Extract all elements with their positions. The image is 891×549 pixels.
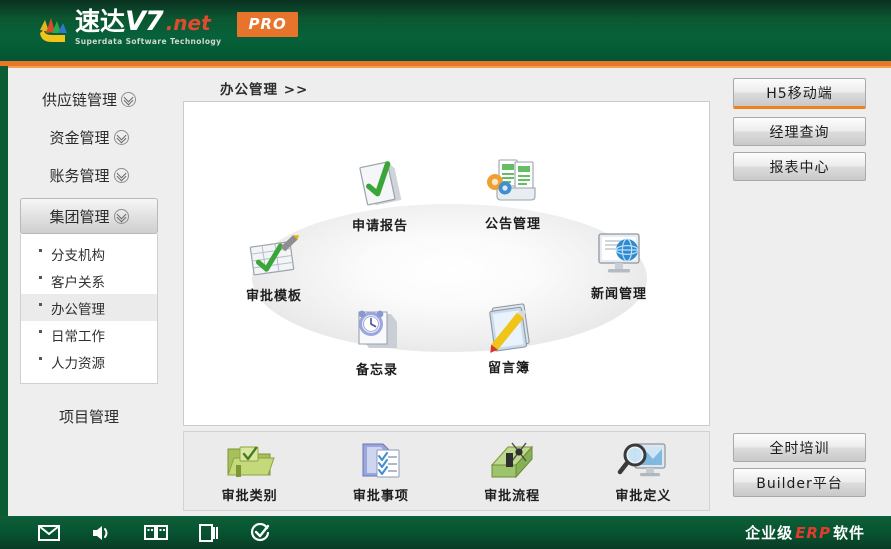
toolbar-item-label: 审批定义 [578, 485, 709, 504]
button-label: 报表中心 [770, 157, 830, 177]
check-circle-icon[interactable] [250, 523, 270, 543]
footer-tagline: 企业级ERP软件 [745, 522, 865, 543]
approval-template-icon [226, 224, 322, 282]
toolbar-item-label: 审批流程 [447, 485, 578, 504]
sidebar-item-label: 人力资源 [51, 356, 105, 372]
sidebar-item-label: 客户关系 [51, 275, 105, 291]
sidebar-item-label: 日常工作 [51, 329, 105, 345]
footer-tagline-prefix: 企业级 [745, 524, 793, 542]
node-label: 审批模板 [226, 285, 322, 304]
sidebar-group-label: 账务管理 [49, 167, 109, 185]
pro-badge: PRO [237, 12, 297, 37]
application-report-icon [332, 154, 428, 212]
left-green-rail [0, 66, 8, 516]
logo-dotnet-text: .net [166, 11, 211, 35]
sidebar-item-label: 办公管理 [51, 302, 105, 318]
approval-matter-document-icon [315, 438, 446, 482]
logo-mark-icon [38, 15, 70, 45]
node-label: 公告管理 [465, 213, 561, 232]
toolbar-item-approval-definition[interactable]: 审批定义 [578, 438, 709, 504]
app-header: 速达V7.net Superdata Software Technology P… [0, 0, 891, 66]
sidebar-group-group-management[interactable]: 集团管理 [20, 198, 158, 234]
brand-logo[interactable]: 速达V7.net Superdata Software Technology P… [38, 9, 298, 47]
announcement-management-icon [465, 152, 561, 210]
message-book-icon [461, 296, 557, 354]
sidebar-group-project-management[interactable]: 项目管理 [8, 384, 170, 427]
node-news-management[interactable]: 新闻管理 [571, 222, 667, 302]
logo-cn-text: 速达 [75, 7, 125, 36]
sidebar-item-label: 分支机构 [51, 248, 105, 264]
sidebar-group-label: 集团管理 [49, 208, 109, 226]
node-label: 留言簿 [461, 357, 557, 376]
node-approval-template[interactable]: 审批模板 [226, 224, 322, 304]
breadcrumb: 办公管理 >> [220, 78, 308, 98]
toolbar-item-approval-flow[interactable]: 审批流程 [447, 438, 578, 504]
logo-tagline: Superdata Software Technology [75, 37, 221, 47]
button-label: 全时培训 [770, 438, 830, 458]
chevron-down-icon[interactable] [114, 168, 129, 183]
approval-definition-search-icon [578, 438, 709, 482]
approval-flow-icon [447, 438, 578, 482]
status-bar-icons [38, 523, 270, 543]
sidebar-group-accounting[interactable]: 账务管理 [8, 158, 170, 192]
node-label: 新闻管理 [571, 283, 667, 302]
node-label: 备忘录 [329, 359, 425, 378]
button-label: H5移动端 [766, 83, 832, 103]
sidebar-group-supply-chain[interactable]: 供应链管理 [8, 82, 170, 116]
memo-icon [329, 298, 425, 356]
sidebar-group-label: 供应链管理 [42, 91, 117, 109]
speaker-icon[interactable] [91, 524, 113, 542]
copy-icon[interactable] [199, 524, 219, 542]
node-application-report[interactable]: 申请报告 [332, 154, 428, 234]
node-message-book[interactable]: 留言簿 [461, 296, 557, 376]
toolbar-item-label: 审批类别 [184, 485, 315, 504]
node-announcement-management[interactable]: 公告管理 [465, 152, 561, 232]
sidebar-navigation: 供应链管理 资金管理 账务管理 集团管理 分支机构 客户关系 办公管理 日常工作… [8, 66, 170, 516]
button-label: Builder平台 [756, 473, 843, 493]
button-h5-mobile[interactable]: H5移动端 [733, 78, 866, 109]
footer-tagline-erp: ERP [795, 524, 831, 542]
sidebar-item-customer-relations[interactable]: 客户关系 [21, 267, 157, 294]
button-manager-query[interactable]: 经理查询 [733, 117, 866, 146]
book-icon[interactable] [144, 524, 168, 541]
node-memo[interactable]: 备忘录 [329, 298, 425, 378]
node-label: 申请报告 [332, 215, 428, 234]
button-report-center[interactable]: 报表中心 [733, 152, 866, 181]
button-label: 经理查询 [770, 122, 830, 142]
main-content-panel: 审批模板 申请报告 [183, 101, 710, 426]
sidebar-item-human-resources[interactable]: 人力资源 [21, 348, 157, 375]
application-window: 速达V7.net Superdata Software Technology P… [0, 0, 891, 549]
sidebar-submenu: 分支机构 客户关系 办公管理 日常工作 人力资源 [20, 234, 158, 384]
chevron-down-icon[interactable] [114, 209, 129, 224]
approval-category-folder-icon [184, 438, 315, 482]
status-bar: 企业级ERP软件 [0, 516, 891, 549]
sidebar-group-label: 项目管理 [59, 408, 119, 426]
news-management-icon [571, 222, 667, 280]
chevron-down-icon[interactable] [121, 92, 136, 107]
button-builder-platform[interactable]: Builder平台 [733, 468, 866, 497]
sidebar-item-office-management[interactable]: 办公管理 [21, 294, 157, 321]
toolbar-item-label: 审批事项 [315, 485, 446, 504]
sidebar-item-branch[interactable]: 分支机构 [21, 240, 157, 267]
mail-icon[interactable] [38, 525, 60, 541]
toolbar-item-approval-category[interactable]: 审批类别 [184, 438, 315, 504]
footer-tagline-suffix: 软件 [833, 524, 865, 542]
button-fulltime-training[interactable]: 全时培训 [733, 433, 866, 462]
chevron-down-icon[interactable] [114, 130, 129, 145]
sidebar-item-daily-work[interactable]: 日常工作 [21, 321, 157, 348]
sidebar-group-label: 资金管理 [49, 129, 109, 147]
logo-v7-text: V7 [125, 6, 163, 37]
approval-toolbar: 审批类别 审批事项 [183, 431, 710, 511]
toolbar-item-approval-matter[interactable]: 审批事项 [315, 438, 446, 504]
sidebar-group-funds[interactable]: 资金管理 [8, 120, 170, 154]
